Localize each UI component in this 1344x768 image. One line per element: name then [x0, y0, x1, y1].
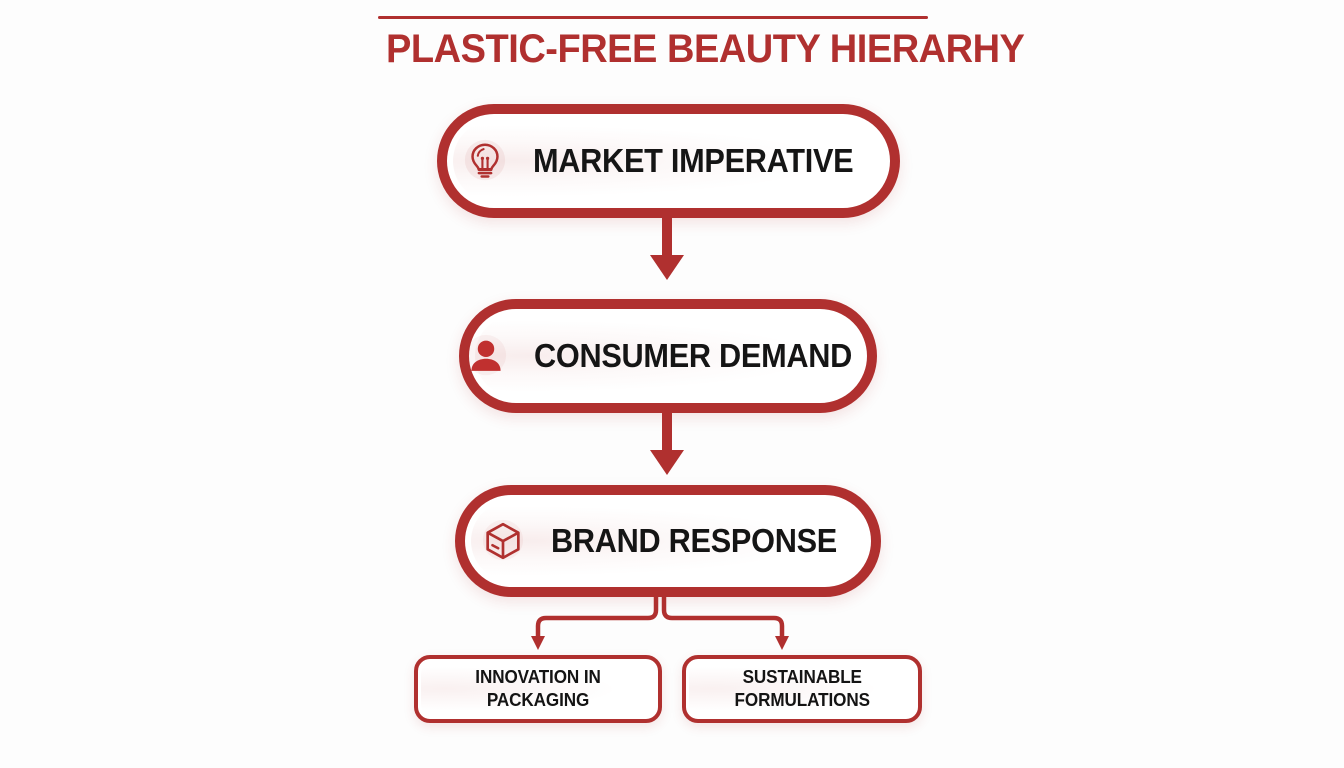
node-label: BRAND RESPONSE	[551, 522, 837, 560]
node-market-imperative[interactable]: MARKET IMPERATIVE	[437, 104, 900, 218]
package-box-icon	[477, 515, 529, 567]
leaf-label-line2: FORMULATIONS	[734, 690, 869, 710]
node-sustainable-formulations[interactable]: SUSTAINABLE FORMULATIONS	[682, 655, 922, 723]
title-divider	[378, 16, 928, 19]
leaf-label-line1: INNOVATION IN	[475, 667, 600, 687]
node-innovation-in-packaging[interactable]: INNOVATION IN PACKAGING	[414, 655, 662, 723]
node-content: BRAND RESPONSE	[477, 515, 859, 567]
leaf-label-line2: PACKAGING	[487, 690, 589, 710]
connector-brand-to-leaves	[490, 592, 830, 660]
page-title: PLASTIC-FREE BEAUTY HIERARHY	[386, 26, 920, 72]
leaf-label-line1: SUSTAINABLE	[742, 667, 861, 687]
node-content: MARKET IMPERATIVE	[459, 135, 877, 187]
person-icon	[460, 330, 512, 382]
connector-consumer-to-brand-arrowhead	[650, 450, 684, 475]
lightbulb-icon	[459, 135, 511, 187]
diagram-canvas: PLASTIC-FREE BEAUTY HIERARHY MARKET	[0, 0, 1344, 768]
node-label: MARKET IMPERATIVE	[533, 142, 853, 180]
node-consumer-demand[interactable]: CONSUMER DEMAND	[459, 299, 877, 413]
leaf-label: INNOVATION IN PACKAGING	[475, 666, 600, 712]
node-content: CONSUMER DEMAND	[460, 330, 876, 382]
connector-consumer-to-brand-line	[662, 410, 672, 455]
connector-market-to-consumer-line	[662, 215, 672, 260]
connector-market-to-consumer-arrowhead	[650, 255, 684, 280]
node-brand-response[interactable]: BRAND RESPONSE	[455, 485, 881, 597]
node-label: CONSUMER DEMAND	[534, 337, 852, 375]
leaf-label: SUSTAINABLE FORMULATIONS	[734, 666, 869, 712]
